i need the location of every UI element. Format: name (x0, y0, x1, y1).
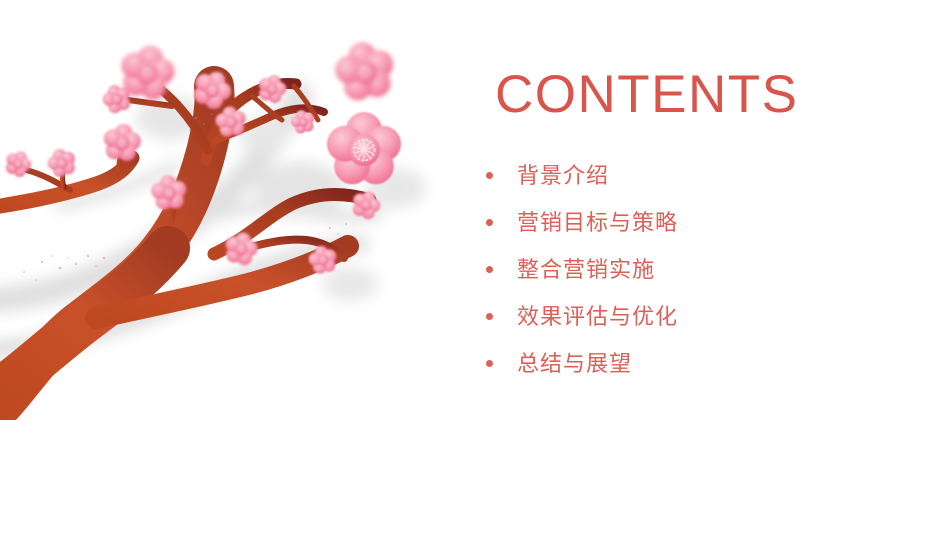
bullet-dot-icon (486, 172, 493, 179)
toc-item-1[interactable]: 背景介绍 (478, 152, 938, 199)
blossom-icon (101, 121, 143, 162)
bullet-dot-icon (486, 266, 493, 273)
blossom-icon (188, 65, 237, 114)
blossom-icon (99, 81, 135, 116)
plum-blossom-illustration (0, 0, 440, 420)
tree-trunk (0, 86, 215, 420)
blossom-icon (214, 104, 248, 138)
blossom-icon (331, 37, 399, 103)
blossom-large-icon (327, 112, 401, 184)
page-title: CONTENTS (495, 68, 799, 121)
tree-branch-left (0, 148, 132, 208)
blossom-group (2, 37, 401, 275)
blossom-icon (44, 145, 79, 180)
slide-root: CONTENTS 背景介绍 营销目标与策略 整合营销实施 效果评估与优化 总结与… (0, 0, 950, 535)
blossom-icon (150, 174, 188, 211)
toc-item-label: 效果评估与优化 (517, 306, 678, 328)
toc-item-5[interactable]: 总结与展望 (478, 340, 938, 387)
tree-branch-upper (128, 74, 324, 160)
petal-speckles (23, 113, 347, 281)
table-of-contents-list: 背景介绍 营销目标与策略 整合营销实施 效果评估与优化 总结与展望 (478, 152, 938, 387)
toc-item-label: 整合营销实施 (517, 259, 655, 281)
bullet-dot-icon (486, 313, 493, 320)
blossom-icon (255, 71, 290, 105)
blossom-icon (116, 40, 180, 102)
blossom-icon (289, 108, 317, 136)
blossom-icon (2, 147, 35, 180)
branch-shadow-group (0, 96, 426, 350)
content-column: CONTENTS 背景介绍 营销目标与策略 整合营销实施 效果评估与优化 总结与… (470, 0, 950, 535)
toc-item-2[interactable]: 营销目标与策略 (478, 199, 938, 246)
blossom-icon (221, 229, 261, 268)
blossom-icon (306, 243, 339, 276)
tree-twig (172, 200, 178, 222)
bullet-dot-icon (486, 360, 493, 367)
bullet-dot-icon (486, 219, 493, 226)
toc-item-label: 总结与展望 (517, 353, 632, 375)
blossom-icon (348, 187, 384, 222)
toc-item-label: 背景介绍 (517, 165, 609, 187)
tree-branch-lower (96, 194, 370, 318)
toc-item-4[interactable]: 效果评估与优化 (478, 293, 938, 340)
toc-item-label: 营销目标与策略 (517, 212, 678, 234)
toc-item-3[interactable]: 整合营销实施 (478, 246, 938, 293)
